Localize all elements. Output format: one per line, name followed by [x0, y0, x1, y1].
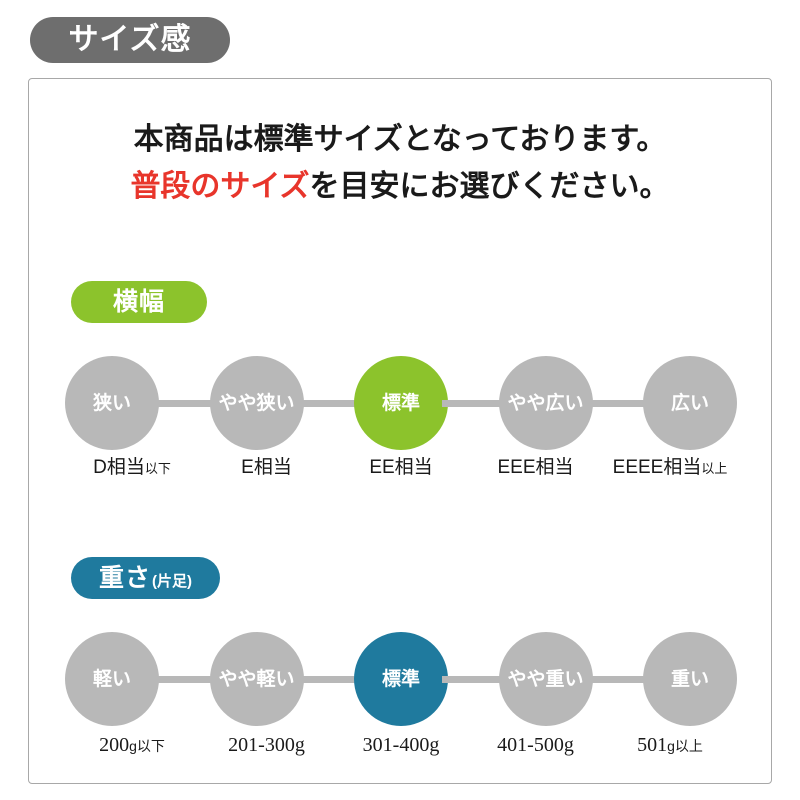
scale-bubble-label: やや広い [507, 394, 583, 413]
scale-node[interactable]: 狭い [65, 356, 159, 450]
scale-node[interactable]: やや広い [499, 356, 593, 450]
size-guide-infographic: サイズ感 本商品は標準サイズとなっております。 普段のサイズを目安にお選びくださ… [0, 0, 800, 800]
width-captions: D相当以下 E相当 EE相当 EEE相当 EEEE相当以上 [65, 457, 737, 480]
scale-caption: 200g以下 [65, 733, 199, 758]
scale-caption: 201-300g [200, 733, 334, 758]
caption-main: 200 [99, 734, 129, 756]
caption-sub: 以下 [145, 461, 171, 476]
caption-main: 501 [637, 734, 667, 756]
scale-bubble-label: やや軽い [218, 670, 294, 689]
scale-caption: 501g以上 [603, 733, 737, 758]
width-scale: 狭い やや狭い 標準 やや広 [65, 353, 737, 453]
caption-sub: g以下 [129, 738, 165, 754]
scale-connector [442, 676, 505, 683]
scale-connector [153, 400, 216, 407]
scale-bubble-label: やや重い [507, 670, 583, 689]
caption-sub: g以上 [667, 738, 703, 754]
scale-bubble: やや軽い [210, 632, 304, 726]
scale-bubble: やや重い [499, 632, 593, 726]
scale-bubble-active: 標準 [354, 632, 448, 726]
badge-width-label: 横幅 [113, 281, 165, 323]
header-pill: サイズ感 [30, 17, 230, 63]
scale-bubble-label: やや狭い [218, 394, 294, 413]
scale-connector [153, 676, 216, 683]
content-card: 本商品は標準サイズとなっております。 普段のサイズを目安にお選びください。 横幅… [28, 78, 772, 784]
scale-bubble: やや広い [499, 356, 593, 450]
intro-line-1: 本商品は標準サイズとなっております。 [29, 117, 771, 164]
intro-highlight: 普段のサイズ [130, 170, 309, 203]
scale-bubble-label: 標準 [382, 394, 420, 413]
intro-line-2: 普段のサイズを目安にお選びください。 [29, 164, 771, 211]
scale-node-active[interactable]: 標準 [354, 632, 448, 726]
scale-node[interactable]: 重い [643, 632, 737, 726]
badge-width: 横幅 [71, 281, 207, 323]
scale-node[interactable]: やや狭い [210, 356, 304, 450]
badge-weight: 重さ(片足) [71, 557, 220, 599]
scale-bubble: 重い [643, 632, 737, 726]
weight-scale: 軽い やや軽い 標準 やや重 [65, 629, 737, 729]
scale-node[interactable]: やや軽い [210, 632, 304, 726]
scale-connector [298, 676, 361, 683]
scale-bubble-label: 軽い [93, 670, 131, 689]
scale-connector [587, 676, 650, 683]
badge-weight-label: 重さ [99, 557, 151, 599]
caption-main: D相当 [93, 457, 145, 478]
weight-captions: 200g以下 201-300g 301-400g 401-500g 501g以上 [65, 733, 737, 758]
scale-bubble-label: 標準 [382, 670, 420, 689]
caption-main: EEEE相当 [613, 457, 702, 478]
scale-bubble: 軽い [65, 632, 159, 726]
scale-caption: EE相当 [334, 457, 468, 480]
badge-weight-sublabel: (片足) [152, 561, 192, 603]
scale-connector [298, 400, 361, 407]
scale-bubble-label: 広い [671, 394, 709, 413]
intro-text: 本商品は標準サイズとなっております。 普段のサイズを目安にお選びください。 [29, 117, 771, 210]
scale-connector [442, 400, 505, 407]
scale-bubble-label: 重い [671, 670, 709, 689]
scale-caption: 301-400g [334, 733, 468, 758]
scale-connector [587, 400, 650, 407]
scale-bubble-active: 標準 [354, 356, 448, 450]
caption-main: E相当 [241, 457, 292, 478]
scale-bubble: やや狭い [210, 356, 304, 450]
scale-caption: 401-500g [469, 733, 603, 758]
scale-bubble: 狭い [65, 356, 159, 450]
caption-sub: 以上 [701, 461, 727, 476]
caption-main: 301-400g [363, 734, 440, 756]
caption-main: 401-500g [497, 734, 574, 756]
scale-node-active[interactable]: 標準 [354, 356, 448, 450]
caption-main: EE相当 [369, 457, 432, 478]
header-title: サイズ感 [68, 25, 191, 55]
scale-caption: D相当以下 [65, 457, 199, 480]
scale-bubble-label: 狭い [93, 394, 131, 413]
scale-node[interactable]: 軽い [65, 632, 159, 726]
scale-node[interactable]: 広い [643, 356, 737, 450]
intro-line-2-rest: を目安にお選びください。 [310, 170, 670, 203]
scale-bubble: 広い [643, 356, 737, 450]
scale-node[interactable]: やや重い [499, 632, 593, 726]
caption-main: EEE相当 [497, 457, 573, 478]
caption-main: 201-300g [228, 734, 305, 756]
scale-caption: E相当 [200, 457, 334, 480]
scale-caption: EEEE相当以上 [603, 457, 737, 480]
scale-caption: EEE相当 [469, 457, 603, 480]
